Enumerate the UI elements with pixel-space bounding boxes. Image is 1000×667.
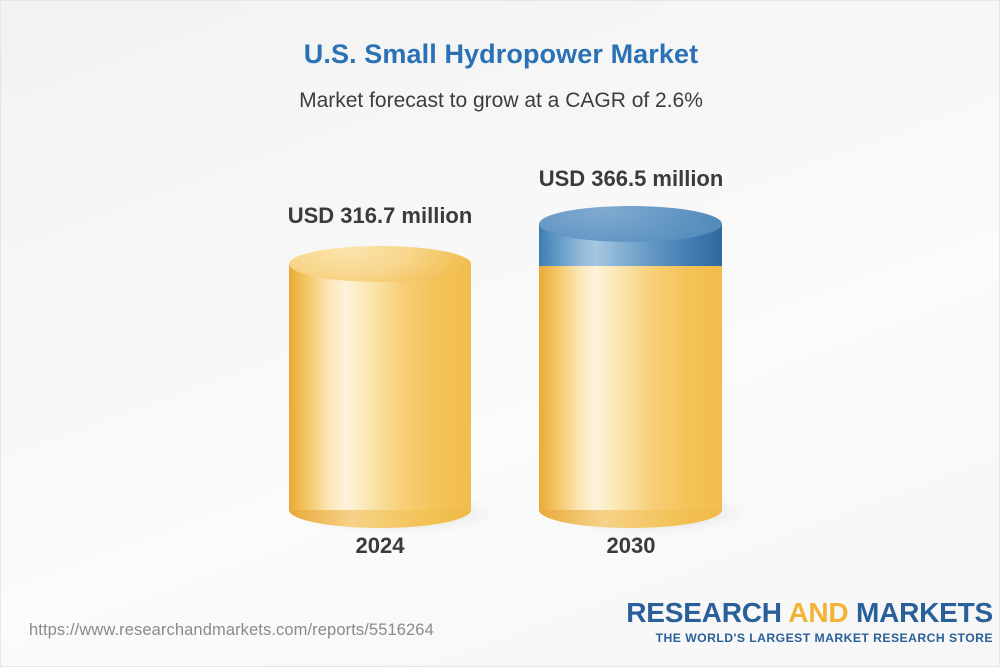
brand-logo-tagline: THE WORLD'S LARGEST MARKET RESEARCH STOR… [626, 632, 993, 644]
cylinder-top-2024 [289, 246, 471, 282]
bar-group-2024[interactable]: USD 316.7 million 2024 [289, 1, 471, 601]
bar-value-label-2030: USD 366.5 million [481, 166, 781, 192]
cylinder-2030 [539, 206, 722, 528]
bar-group-2030[interactable]: USD 366.5 million 2030 [539, 1, 722, 601]
bar-value-label-2024: USD 316.7 million [230, 203, 530, 229]
brand-logo[interactable]: RESEARCH AND MARKETS THE WORLD'S LARGEST… [626, 599, 993, 644]
brand-logo-markets: MARKETS [856, 597, 993, 628]
brand-logo-research: RESEARCH [626, 597, 782, 628]
bar-category-label-2030: 2030 [481, 533, 781, 559]
cylinder-top-2030 [539, 206, 722, 242]
source-url[interactable]: https://www.researchandmarkets.com/repor… [29, 621, 434, 640]
cylinder-body-base-2030 [539, 266, 722, 510]
chart-canvas: U.S. Small Hydropower Market Market fore… [0, 0, 1000, 667]
cylinder-body-2024 [289, 264, 471, 510]
cylinder-2024 [289, 246, 471, 528]
brand-logo-wordmark: RESEARCH AND MARKETS [626, 599, 993, 627]
brand-logo-and: AND [788, 597, 848, 628]
plot-area: USD 316.7 million 2024 USD 366.5 million [1, 1, 1000, 601]
